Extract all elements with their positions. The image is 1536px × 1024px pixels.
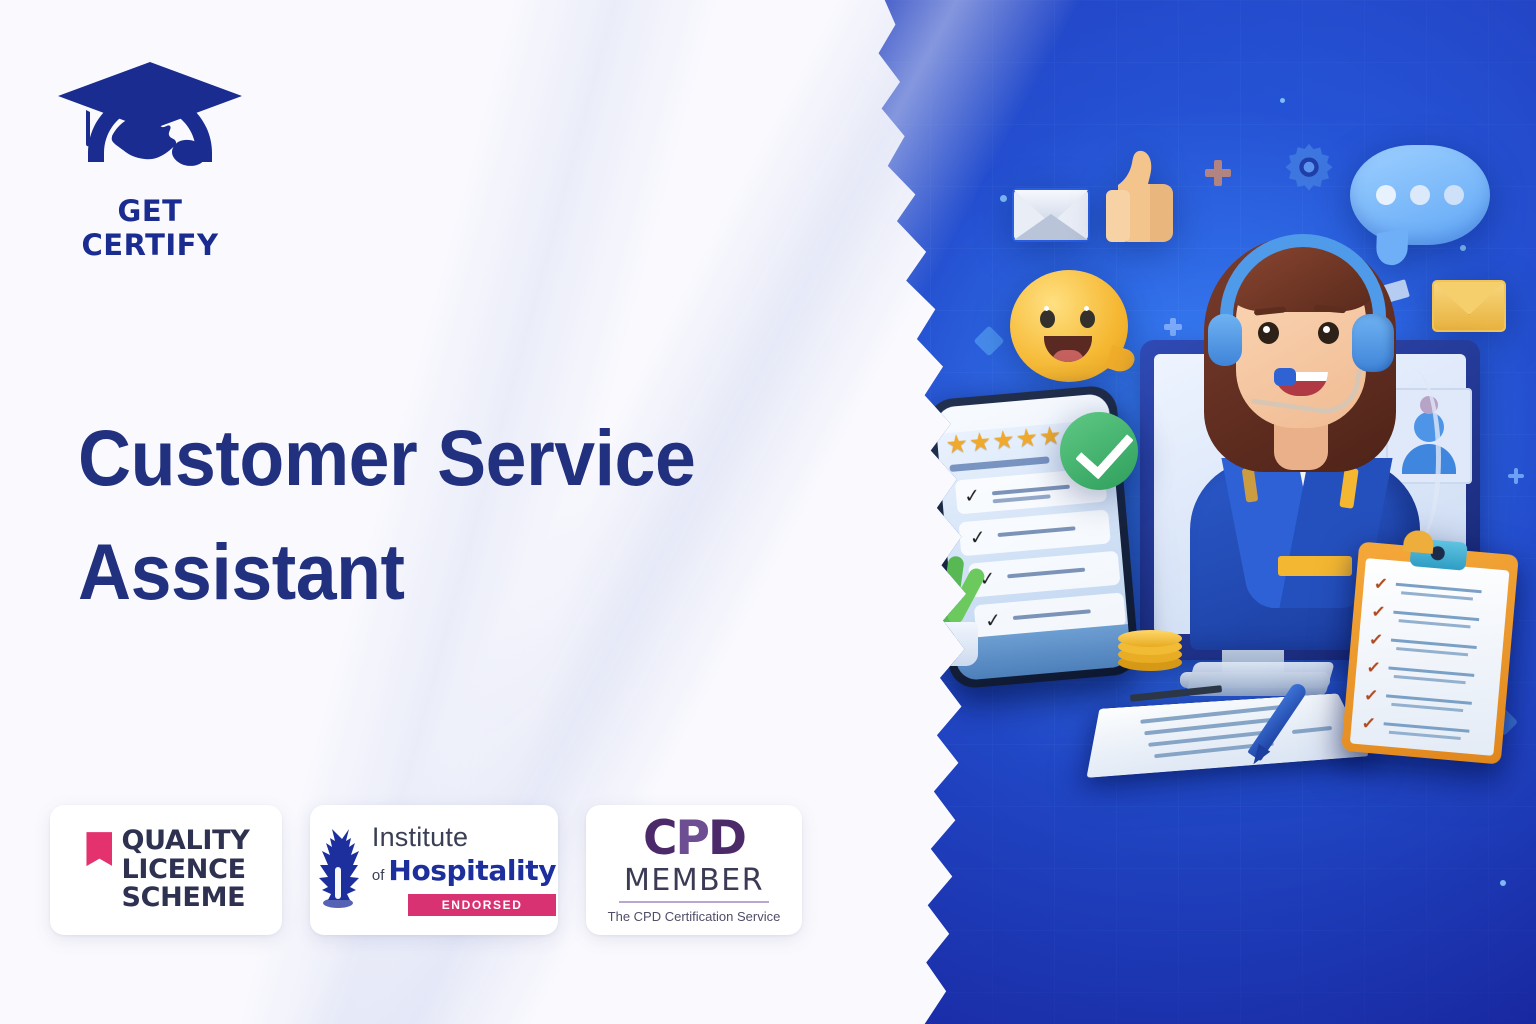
accreditation-badges: QUALITY LICENCE SCHEME Institute	[50, 805, 802, 935]
cpd-letter-d: D	[708, 815, 745, 862]
glow-dot-icon	[1460, 245, 1466, 251]
cpd-member-text: MEMBER	[624, 866, 764, 896]
cpd-letter-p: P	[676, 815, 708, 862]
bookmark-flag-icon	[86, 832, 112, 866]
smiley-face-icon	[1010, 270, 1128, 382]
page-title-line2: Assistant	[78, 515, 785, 630]
cpd-letter-c: C	[643, 815, 676, 862]
plus-sparkle-icon	[1508, 468, 1524, 484]
hero-banner: ★ ★ ★ ★ ★ ✓ ✓ ✓ ✓	[0, 0, 1536, 1024]
ioh-institute-text: Institute	[372, 824, 468, 851]
qls-line1: QUALITY	[121, 827, 249, 856]
gear-icon	[1278, 140, 1340, 202]
page-title-line1: Customer Service	[78, 413, 695, 502]
badge-institute-of-hospitality[interactable]: Institute of Hospitality ENDORSED	[310, 805, 558, 935]
qls-line2: LICENCE	[121, 856, 249, 885]
qls-line3: SCHEME	[121, 884, 249, 913]
badge-cpd-member[interactable]: C P D MEMBER The CPD Certification Servi…	[586, 805, 802, 935]
ioh-hospitality-text: Hospitality	[388, 854, 556, 887]
badge-quality-licence-scheme[interactable]: QUALITY LICENCE SCHEME	[50, 805, 282, 935]
ioh-endorsed-ribbon: ENDORSED	[408, 894, 556, 916]
envelope-icon	[1012, 188, 1090, 242]
graduation-cap-globe-icon	[50, 58, 250, 198]
potted-plant-icon	[900, 560, 996, 670]
green-check-badge-icon	[1060, 412, 1138, 490]
page-title: Customer Service Assistant	[78, 401, 785, 630]
heraldic-crest-icon	[312, 827, 364, 913]
brand-logo[interactable]: GET CERTIFY	[50, 58, 250, 238]
cpd-divider	[619, 901, 769, 903]
document-pen-icon	[1096, 668, 1366, 788]
envelope-orange-icon	[1432, 280, 1506, 332]
cpd-subtitle: The CPD Certification Service	[608, 909, 781, 925]
ioh-of-text: of	[372, 867, 385, 884]
clipboard-checklist-icon: ✓ ✓ ✓ ✓ ✓ ✓	[1341, 541, 1519, 764]
glow-dot-icon	[1500, 880, 1506, 886]
glow-dot-icon	[1280, 98, 1285, 103]
plus-sparkle-icon	[1205, 160, 1231, 186]
glow-dot-icon	[1000, 195, 1007, 202]
brand-logo-text: GET CERTIFY	[50, 194, 250, 262]
